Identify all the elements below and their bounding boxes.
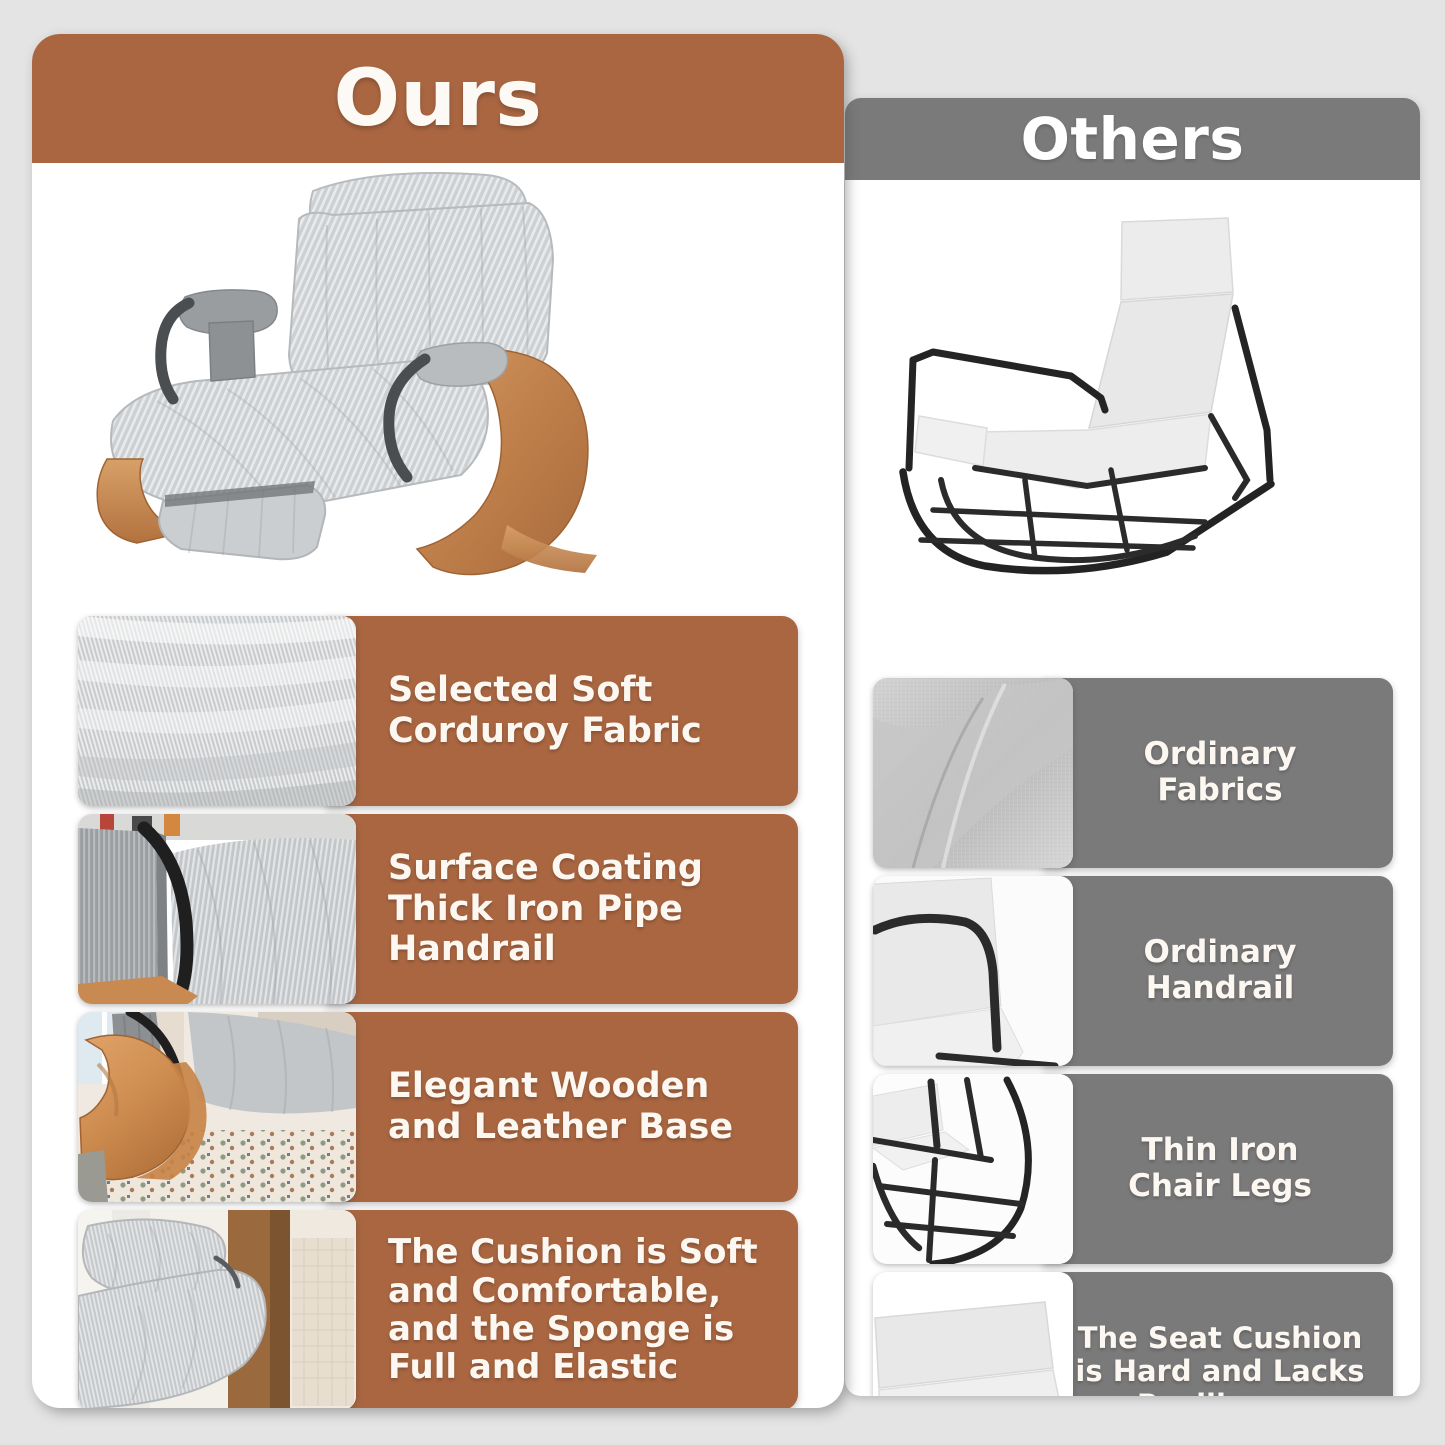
others-feature-row-2: Ordinary Handrail [873, 876, 1393, 1066]
others-feature-label-2: Ordinary Handrail [1144, 935, 1297, 1007]
ours-feature-row-4: The Cushion is Soft and Comfortable, and… [78, 1210, 798, 1408]
others-hero-image [845, 180, 1420, 660]
others-comparison-card: Others [845, 98, 1420, 1396]
wooden-leather-base-thumb [78, 1012, 356, 1202]
ours-feature-row-3: Elegant Wooden and Leather Base [78, 1012, 798, 1202]
others-feature-label-3: Thin Iron Chair Legs [1128, 1133, 1312, 1205]
others-feature-banner-2: Ordinary Handrail [1043, 876, 1393, 1066]
ordinary-woven-fabric-thumb [873, 678, 1073, 868]
others-feature-banner-1: Ordinary Fabrics [1043, 678, 1393, 868]
ours-comparison-card: Ours [32, 34, 844, 1408]
others-feature-row-1: Ordinary Fabrics [873, 678, 1393, 868]
ordinary-thin-handrail-thumb [873, 876, 1073, 1066]
ours-feature-banner-4: The Cushion is Soft and Comfortable, and… [326, 1210, 798, 1408]
others-feature-banner-4: The Seat Cushion is Hard and Lacks Resil… [1043, 1272, 1393, 1396]
ours-feature-banner-2: Surface Coating Thick Iron Pipe Handrail [326, 814, 798, 1004]
others-feature-label-4: The Seat Cushion is Hard and Lacks Resil… [1075, 1322, 1364, 1396]
others-header-title: Others [1021, 110, 1245, 168]
soft-cushion-headrest-thumb [78, 1210, 356, 1408]
ours-hero-image [32, 163, 844, 613]
ours-feature-banner-1: Selected Soft Corduroy Fabric [326, 616, 798, 806]
others-header-bar: Others [845, 98, 1420, 180]
ours-feature-row-2: Surface Coating Thick Iron Pipe Handrail [78, 814, 798, 1004]
iron-pipe-handrail-thumb [78, 814, 356, 1004]
comparison-infographic: Others [0, 0, 1445, 1445]
ours-feature-label-3: Elegant Wooden and Leather Base [388, 1066, 733, 1147]
corduroy-fabric-closeup-thumb [78, 616, 356, 806]
ours-feature-row-1: Selected Soft Corduroy Fabric [78, 616, 798, 806]
others-feature-banner-3: Thin Iron Chair Legs [1043, 1074, 1393, 1264]
ours-feature-label-1: Selected Soft Corduroy Fabric [388, 670, 702, 751]
ours-feature-label-2: Surface Coating Thick Iron Pipe Handrail [388, 848, 703, 970]
ours-feature-banner-3: Elegant Wooden and Leather Base [326, 1012, 798, 1202]
ours-feature-label-4: The Cushion is Soft and Comfortable, and… [388, 1233, 758, 1387]
hard-seat-cushion-thumb [873, 1272, 1073, 1396]
others-feature-list: Ordinary Fabrics Ordinary Handrail [845, 678, 1420, 1396]
others-feature-row-3: Thin Iron Chair Legs [873, 1074, 1393, 1264]
others-feature-row-4: The Seat Cushion is Hard and Lacks Resil… [873, 1272, 1393, 1396]
ours-header-bar: Ours [32, 34, 844, 163]
thin-iron-chair-legs-thumb [873, 1074, 1073, 1264]
ours-header-title: Ours [334, 60, 543, 138]
others-feature-label-1: Ordinary Fabrics [1144, 737, 1297, 809]
ours-feature-list: Selected Soft Corduroy Fabric [32, 616, 844, 1408]
